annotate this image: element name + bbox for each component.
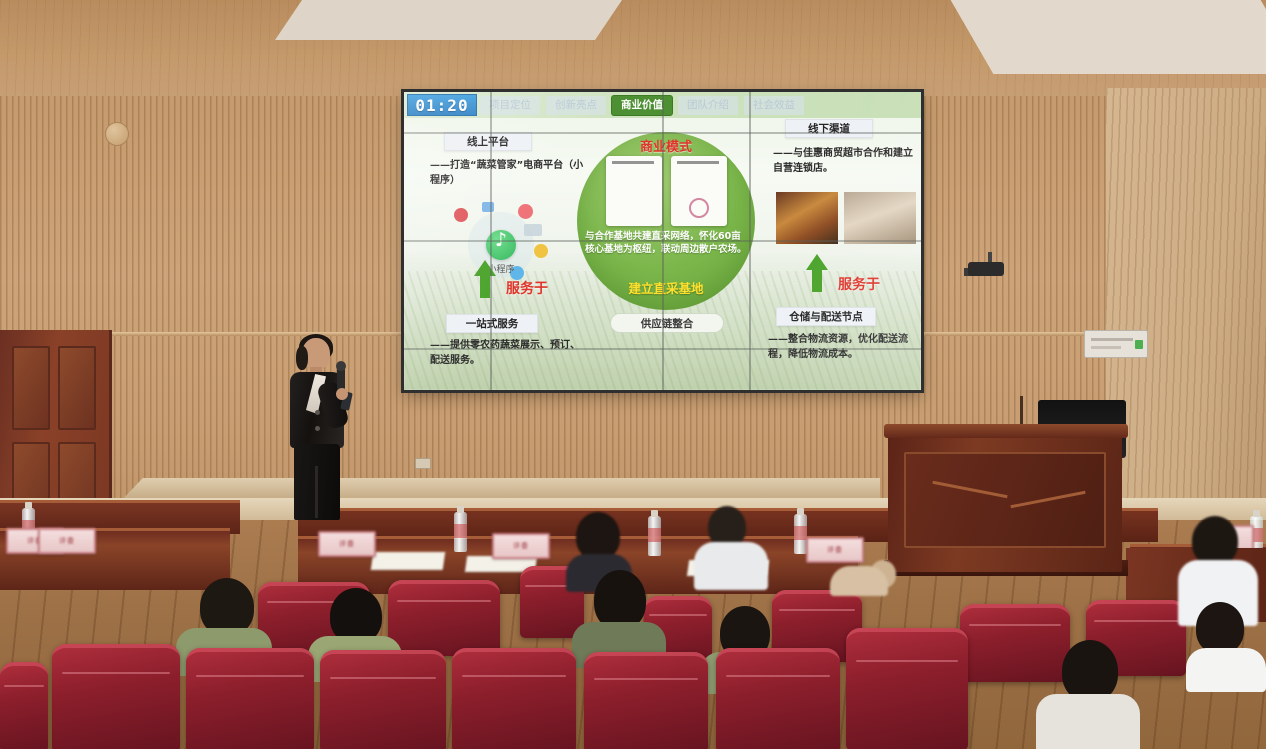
up-arrow-stem <box>812 270 822 292</box>
auditorium-seat[interactable] <box>0 662 48 749</box>
papers <box>371 552 446 570</box>
led-video-wall[interactable]: 商业模式 与合作基地共建直采网络，怀化60亩核心基地为枢纽，联动周边散户农场。 … <box>404 92 921 390</box>
tab-social-benefit[interactable]: 社会效益 <box>744 96 804 115</box>
ceiling-tile <box>951 0 1266 74</box>
auditorium-seat[interactable] <box>186 648 314 749</box>
countdown-timer: 01:20 <box>407 94 477 116</box>
podium-panel <box>904 452 1106 548</box>
panel-slot <box>1091 346 1121 349</box>
slide-header-warehouse-node: 仓储与配送节点 <box>776 307 876 326</box>
app-icon <box>524 224 542 236</box>
door-panel <box>58 346 96 430</box>
up-arrow-icon <box>474 260 496 276</box>
slide-header-offline-channel: 线下渠道 <box>785 119 873 138</box>
auditorium-seat[interactable] <box>716 648 840 749</box>
door-panel <box>12 346 50 430</box>
presenter <box>282 338 354 518</box>
storefront-photo <box>844 192 916 244</box>
app-icon <box>482 202 494 212</box>
presenter-hand <box>336 388 348 400</box>
slide-body-offline-channel: ——与佳惠商贸超市合作和建立自营连锁店。 <box>773 146 919 176</box>
lectern <box>888 430 1122 572</box>
up-arrow-stem <box>480 276 490 298</box>
auditorium-seat[interactable] <box>846 628 968 749</box>
ceiling <box>0 0 1266 104</box>
wall-outlet <box>415 458 431 469</box>
presenter-leg-gap <box>315 466 318 518</box>
slide-body-online-platform: ——打造“蔬菜管家”电商平台（小程序） <box>430 158 588 188</box>
up-arrow-icon <box>806 254 828 270</box>
presentation-slide: 商业模式 与合作基地共建直采网络，怀化60亩核心基地为枢纽，联动周边散户农场。 … <box>404 92 921 390</box>
supply-chain-pill: 供应链整合 <box>610 313 724 333</box>
auditorium-seat[interactable] <box>584 652 708 749</box>
app-icon <box>534 244 548 258</box>
slide-header-online-platform: 线上平台 <box>444 132 532 151</box>
serves-label-left: 服务于 <box>506 278 548 298</box>
slide-body-one-stop-service: ——提供零农药蔬菜展示、预订、配送服务。 <box>430 338 588 368</box>
slide-nav-bar: 项目定位 创新亮点 商业价值 团队介绍 社会效益 <box>404 92 921 118</box>
miniprogram-main-icon <box>486 230 516 260</box>
suit-button <box>315 426 320 431</box>
auditorium-seat[interactable] <box>388 580 500 656</box>
slide-body-warehouse-node: ——整合物流资源，优化配送流程，降低物流成本。 <box>768 332 918 362</box>
app-icon <box>454 208 468 222</box>
water-bottle <box>648 516 661 556</box>
tab-business-value[interactable]: 商业价值 <box>612 96 672 115</box>
circle-body-text: 与合作基地共建直采网络，怀化60亩核心基地为枢纽，联动周边散户农场。 <box>585 230 747 257</box>
presenter-hair-side <box>296 346 308 370</box>
nameplate: 评委 <box>492 533 550 559</box>
business-model-circle: 商业模式 与合作基地共建直采网络，怀化60亩核心基地为枢纽，联动周边散户农场。 … <box>577 132 755 310</box>
seated-judge <box>694 506 768 590</box>
camera-icon <box>968 262 1004 276</box>
ceiling-speaker-icon <box>105 122 129 146</box>
auditorium-seat[interactable] <box>452 648 576 749</box>
water-bottle <box>454 512 467 552</box>
supermarket-photo <box>776 192 838 244</box>
suit-button <box>315 410 320 415</box>
tab-project-positioning[interactable]: 项目定位 <box>480 96 540 115</box>
nameplate: 评委 <box>38 528 96 554</box>
auditorium-seat[interactable] <box>52 644 180 749</box>
wall-control-panel[interactable] <box>1084 330 1148 358</box>
audience-member <box>1036 640 1140 749</box>
panel-slot <box>1091 338 1133 341</box>
serves-label-right: 服务于 <box>838 274 880 294</box>
conference-room-scene: 商业模式 与合作基地共建直采网络，怀化60亩核心基地为枢纽，联动周边散户农场。 … <box>0 0 1266 749</box>
document-image <box>671 156 727 226</box>
app-icon <box>518 204 533 219</box>
ceiling-tile <box>275 0 645 40</box>
document-image <box>606 156 662 226</box>
nameplate: 评委 <box>318 531 376 557</box>
audience-member <box>1186 602 1266 688</box>
seated-judge <box>830 550 892 594</box>
status-led-icon <box>1135 340 1143 349</box>
circle-title: 商业模式 <box>577 136 755 155</box>
audience-member <box>572 570 666 662</box>
slide-header-one-stop-service: 一站式服务 <box>446 314 538 333</box>
certificate-images <box>599 156 733 226</box>
auditorium-seat[interactable] <box>320 650 446 749</box>
tab-innovation-highlights[interactable]: 创新亮点 <box>546 96 606 115</box>
podium-top <box>884 424 1128 438</box>
circle-subtitle: 建立直采基地 <box>577 278 755 297</box>
tab-team-introduction[interactable]: 团队介绍 <box>678 96 738 115</box>
